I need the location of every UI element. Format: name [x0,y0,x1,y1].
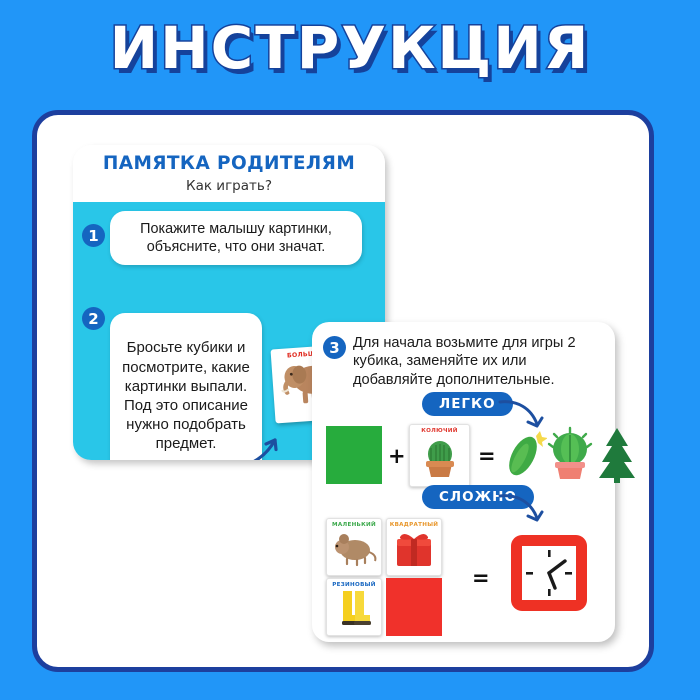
fir-tree-icon [595,426,639,484]
memo-header: ПАМЯТКА РОДИТЕЛЯМ Как играть? [73,145,385,200]
cucumber-icon [503,430,547,480]
memo-title: ПАМЯТКА РОДИТЕЛЯМ [73,153,385,174]
step-number-2: 2 [82,307,105,330]
step-number-1: 1 [82,224,105,247]
step-3-text: Для начала возьмите для игры 2 кубика, з… [353,334,603,389]
boots-icon [334,588,374,630]
picture-card-square: КВАДРАТНЫЙ [386,518,442,576]
mouse-icon [331,528,377,568]
page-title: ИНСТРУКЦИЯ [0,14,700,82]
picture-card-small: МАЛЕНЬКИЙ [326,518,382,576]
picture-card-rubber: РЕЗИНОВЫЙ [326,578,382,636]
color-square-red [386,578,442,636]
color-square-green [326,426,382,484]
square-clock-icon [508,532,590,614]
cactus-photo-icon [417,434,463,480]
curved-arrow-icon [228,427,288,460]
cactus-icon [545,425,595,483]
equals-icon-hard: = [472,566,490,590]
curved-arrow-icon-hard [497,490,549,532]
memo-subtitle: Как играть? [73,178,385,194]
plus-icon: + [388,444,406,468]
step-1-text: Покажите малышу картинки, объясните, что… [110,211,362,265]
equals-icon-easy: = [478,444,496,468]
step-number-3: 3 [323,336,346,359]
gift-icon [392,528,436,568]
picture-card-prickly: КОЛЮЧИЙ [409,424,470,487]
step-3-card: 3 Для начала возьмите для игры 2 кубика,… [312,322,615,642]
